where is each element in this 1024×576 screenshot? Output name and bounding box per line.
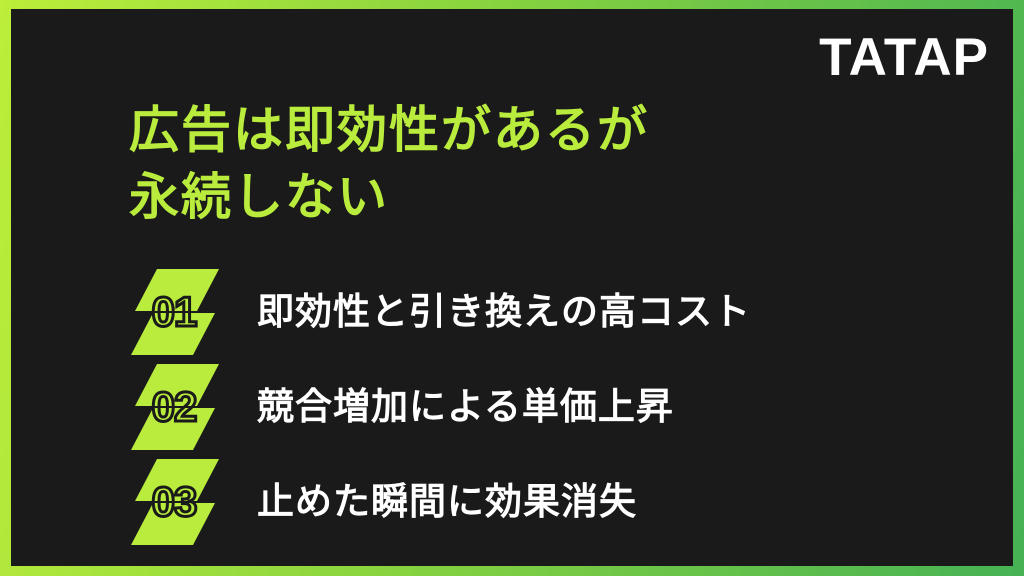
slide-frame: TATAP 広告は即効性があるが 永続しない 01 即効性と引き換えの高コスト bbox=[0, 0, 1024, 576]
badge-number: 01 bbox=[123, 269, 231, 355]
list-item: 03 止めた瞬間に効果消失 bbox=[123, 454, 963, 549]
list-item-label: 止めた瞬間に効果消失 bbox=[257, 483, 637, 520]
list-item-label: 競合増加による単価上昇 bbox=[257, 388, 674, 425]
badge-number: 02 bbox=[123, 364, 231, 450]
badge-02: 02 bbox=[123, 364, 231, 450]
list-item: 01 即効性と引き換えの高コスト bbox=[123, 264, 963, 359]
list-item: 02 競合増加による単価上昇 bbox=[123, 359, 963, 454]
badge-03: 03 bbox=[123, 459, 231, 545]
page-title: 広告は即効性があるが 永続しない bbox=[129, 97, 649, 230]
brand-logo: TATAP bbox=[819, 31, 989, 84]
slide-content: TATAP 広告は即効性があるが 永続しない 01 即効性と引き換えの高コスト bbox=[11, 9, 1013, 566]
page-title-line-2: 永続しない bbox=[129, 164, 649, 231]
page-title-line-1: 広告は即効性があるが bbox=[129, 97, 649, 164]
badge-number: 03 bbox=[123, 459, 231, 545]
bullet-list: 01 即効性と引き換えの高コスト 02 競合増加による単価上昇 bbox=[123, 264, 963, 549]
badge-01: 01 bbox=[123, 269, 231, 355]
list-item-label: 即効性と引き換えの高コスト bbox=[257, 293, 751, 330]
